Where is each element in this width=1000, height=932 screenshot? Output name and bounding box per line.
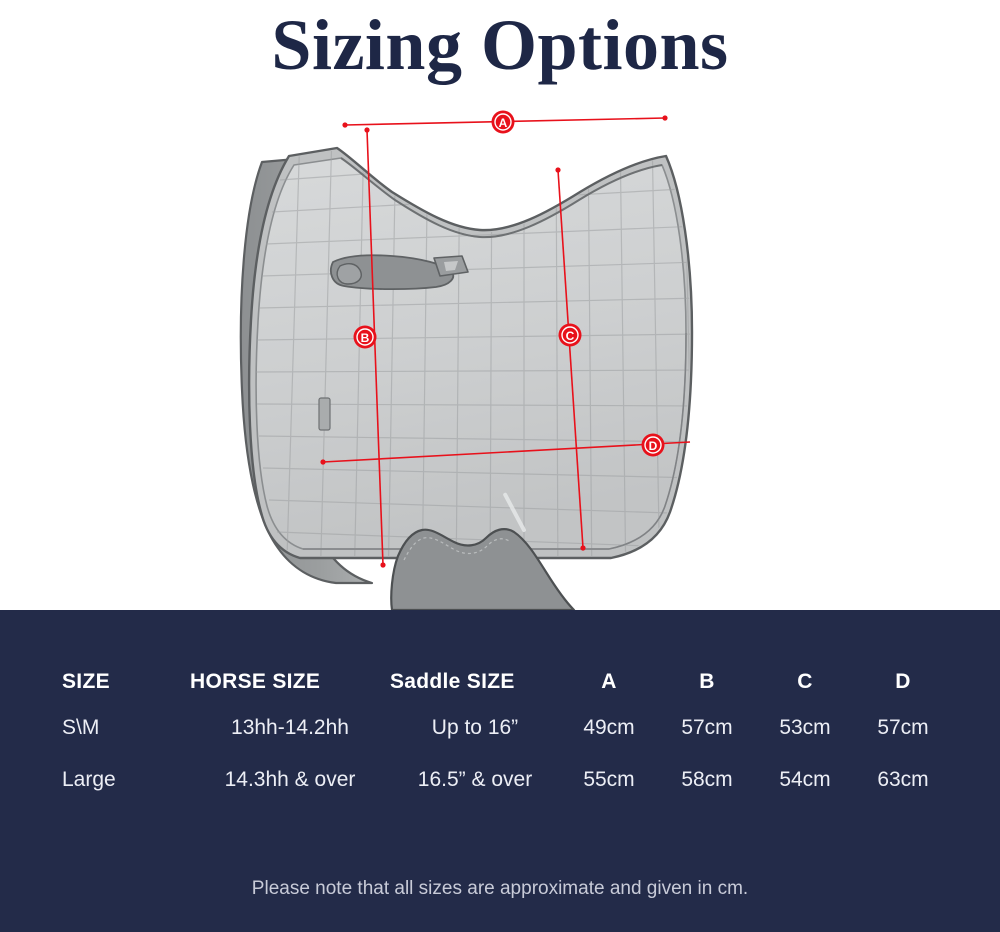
cell-size: Large	[62, 768, 190, 792]
sizing-table-panel: SIZE HORSE SIZE Saddle SIZE A B C D S\M …	[0, 610, 1000, 932]
cell-a: 55cm	[560, 768, 658, 792]
svg-text:C: C	[566, 329, 575, 343]
cell-size: S\M	[62, 716, 190, 740]
column-header-c: C	[756, 670, 854, 694]
saddle-pad-illustration: A B C D	[0, 90, 1000, 610]
table-row: S\M 13hh-14.2hh Up to 16” 49cm 57cm 53cm…	[0, 716, 1000, 768]
table-header-row: SIZE HORSE SIZE Saddle SIZE A B C D	[0, 670, 1000, 716]
marker-badge-c: C	[559, 324, 582, 347]
column-header-size: SIZE	[62, 670, 190, 694]
svg-text:D: D	[649, 439, 658, 453]
side-tab-label	[319, 398, 330, 430]
svg-text:B: B	[361, 331, 370, 345]
marker-badge-a: A	[492, 111, 515, 134]
sizing-table: SIZE HORSE SIZE Saddle SIZE A B C D S\M …	[0, 670, 1000, 820]
column-header-a: A	[560, 670, 658, 694]
cell-c: 54cm	[756, 768, 854, 792]
page-title: Sizing Options	[271, 9, 728, 81]
column-header-saddle-size: Saddle SIZE	[390, 670, 560, 694]
wither-logo-patch	[434, 256, 468, 276]
saddle-pad-diagram: A B C D	[0, 90, 1000, 610]
table-row: Large 14.3hh & over 16.5” & over 55cm 58…	[0, 768, 1000, 820]
cell-d: 57cm	[854, 716, 952, 740]
cell-saddle-size: 16.5” & over	[390, 768, 560, 792]
marker-badge-d: D	[642, 434, 665, 457]
cell-saddle-size: Up to 16”	[390, 716, 560, 740]
cell-a: 49cm	[560, 716, 658, 740]
column-header-horse-size: HORSE SIZE	[190, 670, 390, 694]
sizing-options-page: Sizing Options	[0, 0, 1000, 932]
cell-b: 57cm	[658, 716, 756, 740]
cell-horse-size: 13hh-14.2hh	[190, 716, 390, 740]
marker-badge-b: B	[354, 326, 377, 349]
column-header-d: D	[854, 670, 952, 694]
cell-d: 63cm	[854, 768, 952, 792]
cell-c: 53cm	[756, 716, 854, 740]
sizing-footnote: Please note that all sizes are approxima…	[0, 878, 1000, 900]
cell-horse-size: 14.3hh & over	[190, 768, 390, 792]
pad-body	[249, 130, 700, 590]
cell-b: 58cm	[658, 768, 756, 792]
svg-text:A: A	[499, 116, 508, 130]
column-header-b: B	[658, 670, 756, 694]
page-title-container: Sizing Options	[0, 0, 1000, 90]
